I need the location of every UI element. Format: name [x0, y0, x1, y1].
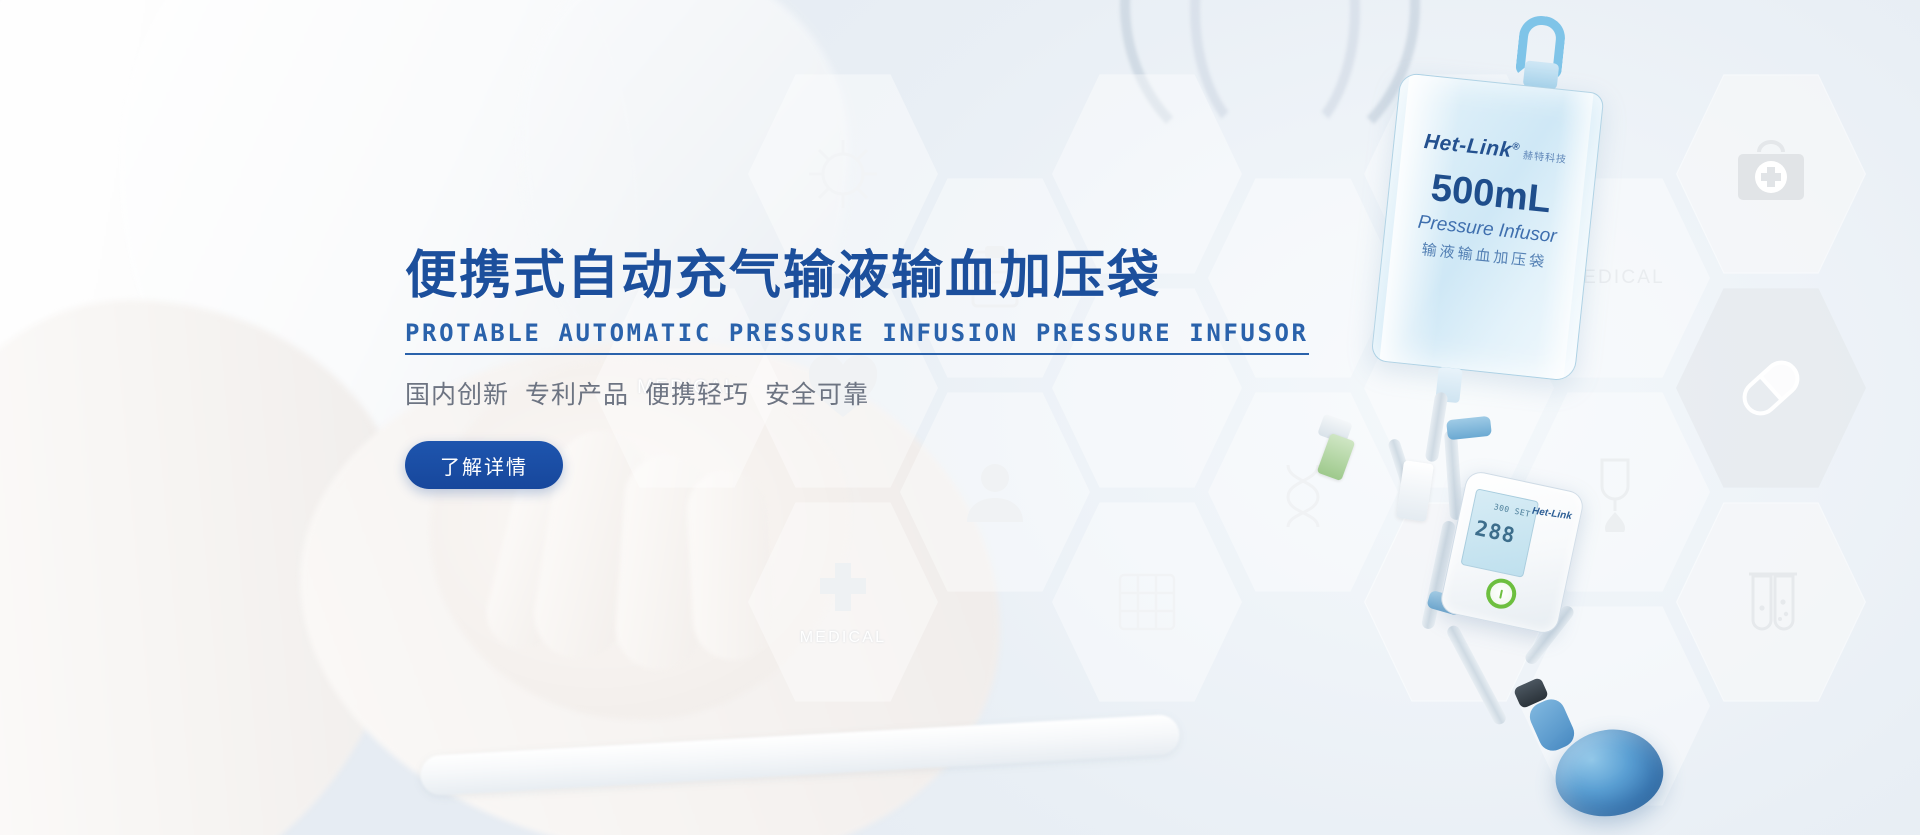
tagline-item: 专利产品 [525, 381, 629, 409]
tagline-item: 安全可靠 [765, 381, 869, 409]
banner-tagline: 国内创新专利产品便携轻巧安全可靠 [405, 375, 1225, 411]
hero-banner: MEDICAL [0, 0, 1920, 835]
learn-more-button[interactable]: 了解详情 [405, 441, 563, 489]
finger-shape [685, 468, 775, 662]
power-button[interactable] [1483, 576, 1519, 612]
monitor-brand-label: Het-Link [1531, 506, 1572, 522]
banner-subhead: PROTABLE AUTOMATIC PRESSURE INFUSION PRE… [405, 319, 1309, 355]
banner-copy-block: 便携式自动充气输液输血加压袋 PROTABLE AUTOMATIC PRESSU… [405, 248, 1225, 489]
bag-brand-cn: 赫特科技 [1522, 150, 1567, 166]
lcd-secondary-readout: 300 SET [1493, 501, 1532, 519]
banner-subhead-wrap: PROTABLE AUTOMATIC PRESSURE INFUSION PRE… [405, 319, 1309, 355]
registered-mark: ® [1512, 141, 1521, 153]
power-icon [1499, 589, 1503, 598]
monitor-lcd-screen: 300 SET 288 [1460, 488, 1539, 578]
lcd-pressure-value: 288 [1473, 516, 1518, 548]
tagline-item: 国内创新 [405, 381, 509, 409]
tagline-item: 便携轻巧 [645, 381, 749, 409]
iv-pressure-bag: Het-Link®赫特科技 500mL Pressure Infusor 输液输… [1370, 72, 1604, 382]
banner-headline: 便携式自动充气输液输血加压袋 [405, 248, 1225, 305]
